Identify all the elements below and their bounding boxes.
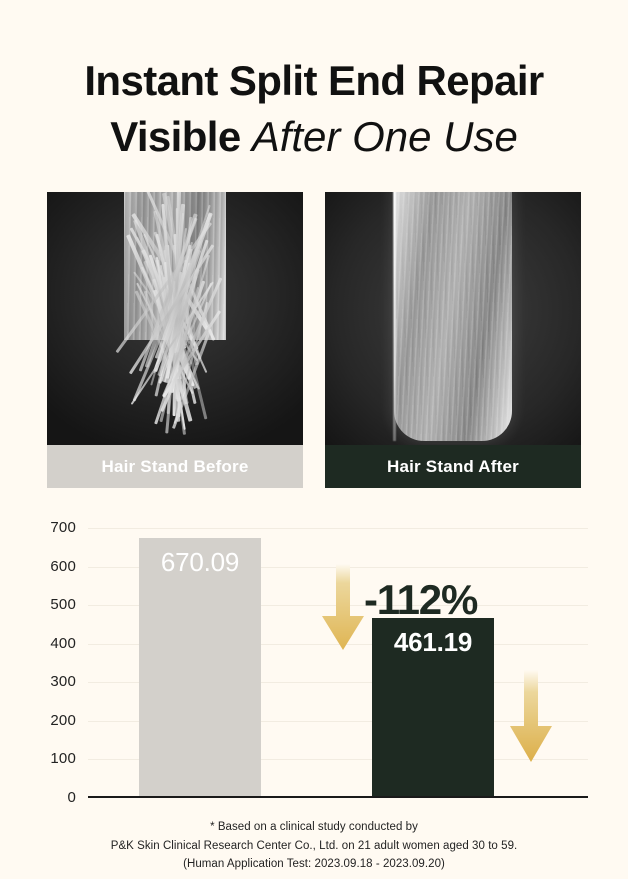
footnote-line-2: P&K Skin Clinical Research Center Co., L… bbox=[0, 837, 628, 856]
y-axis-tick-400: 400 bbox=[30, 635, 76, 652]
sealed-hair-shaft bbox=[394, 192, 512, 441]
promo-page: Instant Split End Repair Visible After O… bbox=[0, 0, 628, 879]
bar-value-before: 670.09 bbox=[139, 547, 261, 578]
sealed-hair-shaft-highlight bbox=[393, 192, 396, 441]
footnote-line-1: * Based on a clinical study conducted by bbox=[0, 818, 628, 837]
chart-x-axis-line bbox=[88, 796, 588, 798]
y-axis-tick-500: 500 bbox=[30, 596, 76, 613]
y-axis-tick-0: 0 bbox=[30, 789, 76, 806]
bar-after: 461.19 bbox=[372, 618, 494, 796]
split-end-bar-chart: 7006005004003002001000 670.09 461.19 bbox=[0, 520, 628, 812]
y-axis-tick-100: 100 bbox=[30, 750, 76, 767]
bar-value-after: 461.19 bbox=[372, 627, 494, 658]
headline-line-1: Instant Split End Repair bbox=[0, 56, 628, 106]
down-arrow-icon-secondary bbox=[508, 670, 554, 764]
y-axis-tick-600: 600 bbox=[30, 558, 76, 575]
y-axis-tick-300: 300 bbox=[30, 673, 76, 690]
gridline-700 bbox=[88, 528, 588, 529]
panel-caption-before: Hair Stand Before bbox=[47, 445, 303, 488]
headline-line-2-bold: Visible bbox=[110, 113, 240, 160]
footnote-line-3: (Human Application Test: 2023.09.18 - 20… bbox=[0, 855, 628, 874]
hair-strand-before-image bbox=[47, 192, 303, 488]
page-title: Instant Split End Repair Visible After O… bbox=[0, 56, 628, 161]
down-arrow-icon-primary bbox=[320, 564, 366, 652]
panel-caption-after: Hair Stand After bbox=[325, 445, 581, 488]
panel-before: Hair Stand Before bbox=[47, 192, 303, 488]
hair-strand-after-image bbox=[325, 192, 581, 488]
headline-line-2-italic: After One Use bbox=[252, 113, 518, 160]
before-after-panels: Hair Stand Before Hair Stand After bbox=[47, 192, 581, 488]
y-axis-tick-200: 200 bbox=[30, 712, 76, 729]
y-axis-tick-700: 700 bbox=[30, 519, 76, 536]
panel-after: Hair Stand After bbox=[325, 192, 581, 488]
percent-change-callout: -112% bbox=[364, 576, 477, 624]
headline-line-2: Visible After One Use bbox=[0, 112, 628, 162]
footnote: * Based on a clinical study conducted by… bbox=[0, 818, 628, 874]
bar-before: 670.09 bbox=[139, 538, 261, 796]
